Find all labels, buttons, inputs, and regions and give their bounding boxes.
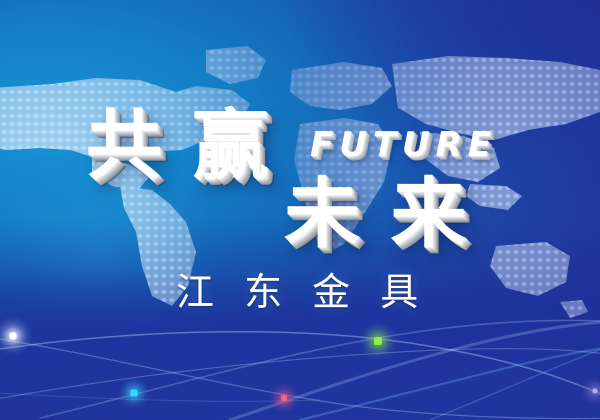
glow-dot-green: [349, 312, 407, 370]
glow-dot-pink-core: [281, 395, 287, 401]
headline-english: FUTURE: [310, 128, 497, 162]
glow-dot-cyan: [111, 370, 157, 416]
glow-dot-white-core: [10, 333, 17, 340]
promo-banner: 共 赢 FUTURE 未 来 江 东 金 具: [0, 0, 600, 420]
company-name: 江 东 金 具: [176, 272, 427, 312]
glow-dot-green-core: [374, 337, 382, 345]
glow-dot-violet-core: [593, 389, 598, 394]
headline-line-2: 未 来: [284, 176, 468, 252]
glow-dot-cyan-core: [131, 390, 138, 397]
headline-line-1: 共 赢: [86, 108, 270, 184]
glow-dot-pink: [262, 376, 306, 420]
